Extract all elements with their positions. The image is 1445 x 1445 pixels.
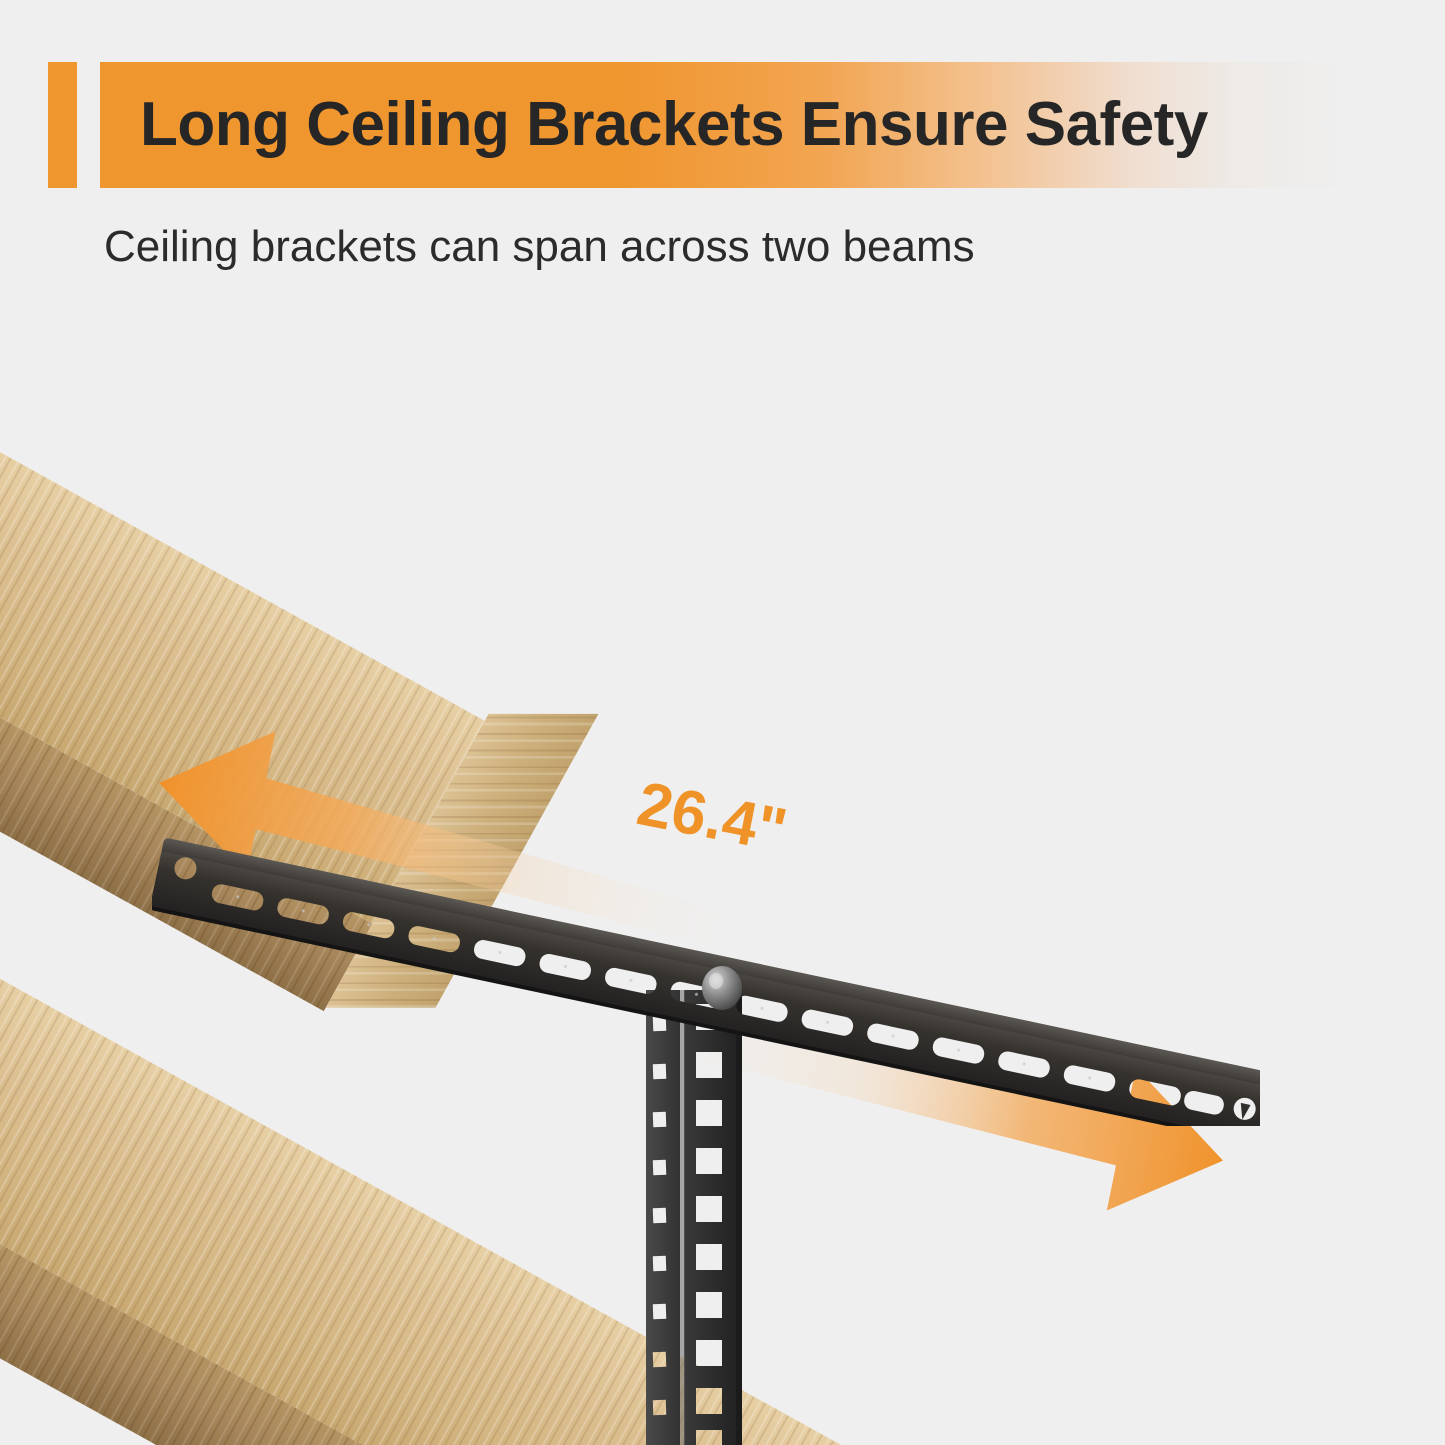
bracket-horizontal-rail — [152, 836, 1260, 1126]
product-illustration: 26.4" — [0, 300, 1445, 1445]
ball-head-bolt — [702, 966, 742, 1010]
header-banner: Long Ceiling Brackets Ensure Safety Ceil… — [0, 0, 1445, 300]
page-title: Long Ceiling Brackets Ensure Safety — [140, 62, 1208, 188]
accent-bar — [48, 62, 77, 188]
page-subtitle: Ceiling brackets can span across two bea… — [104, 222, 975, 272]
